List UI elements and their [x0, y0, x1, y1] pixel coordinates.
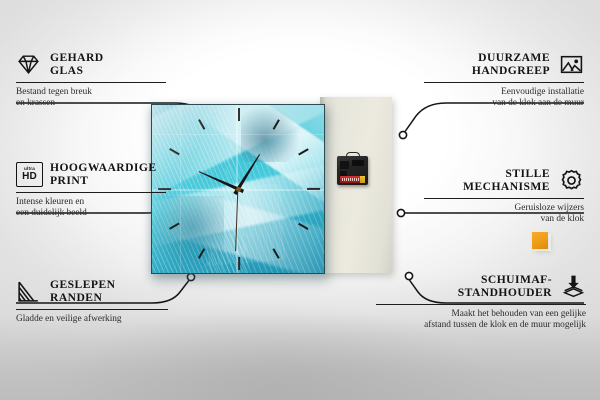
feature-desc: Maakt het behouden van een gelijke — [376, 309, 586, 320]
feature-desc: en krassen — [16, 98, 166, 109]
gear-icon — [559, 168, 584, 193]
feature-schuimafstandhouder: SCHUIMAF- STANDHOUDER Maakt het behouden… — [376, 274, 586, 332]
divider — [376, 304, 586, 305]
feature-desc: Eenvoudige installatie — [424, 87, 584, 98]
feature-desc: een duidelijk beeld — [16, 208, 166, 219]
mechanism-hanger-icon — [346, 152, 360, 160]
feature-title: DUURZAME HANDGREEP — [472, 52, 550, 78]
product-assembly — [150, 102, 390, 282]
clock-mechanism — [337, 156, 368, 185]
beveled-edge-icon — [16, 279, 41, 304]
feature-gehard-glas: GEHARD GLAS Bestand tegen breuk en krass… — [16, 52, 166, 110]
feature-desc: Gladde en veilige afwerking — [16, 314, 168, 325]
clock-back-panel — [320, 97, 392, 273]
feature-title: HOOGWAARDIGE PRINT — [50, 162, 157, 188]
infographic-canvas: GEHARD GLAS Bestand tegen breuk en krass… — [0, 0, 600, 400]
divider — [16, 192, 166, 193]
foam-spacer — [532, 232, 548, 249]
feature-desc: van de klok — [424, 214, 584, 225]
feature-stille-mechanisme: STILLE MECHANISME Geruisloze wijzers van… — [424, 168, 584, 226]
divider — [424, 198, 584, 199]
glass-clock-face — [151, 104, 325, 274]
feature-desc: Geruisloze wijzers — [424, 203, 584, 214]
feature-title: SCHUIMAF- STANDHOUDER — [458, 274, 552, 300]
picture-frame-icon — [559, 52, 584, 77]
glass-gloss-reflection — [152, 105, 324, 273]
battery-label — [342, 178, 360, 181]
divider — [16, 82, 166, 83]
feature-title: GEHARD GLAS — [50, 52, 104, 78]
down-arrow-stack-icon — [561, 274, 586, 299]
ultra-hd-icon: ultra HD — [16, 162, 41, 187]
feature-desc: Bestand tegen breuk — [16, 87, 166, 98]
feature-hoogwaardige-print: ultra HD HOOGWAARDIGE PRINT Intense kleu… — [16, 162, 166, 220]
diamond-icon — [16, 52, 41, 77]
feature-title: STILLE MECHANISME — [463, 168, 550, 194]
battery-positive-terminal — [360, 176, 365, 183]
divider — [16, 309, 168, 310]
feature-duurzame-handgreep: DUURZAME HANDGREEP Eenvoudige installati… — [424, 52, 584, 110]
feature-desc: van de klok aan de muur — [424, 98, 584, 109]
feature-title: GESLEPEN RANDEN — [50, 279, 115, 305]
divider — [424, 82, 584, 83]
mechanism-detail — [340, 161, 349, 169]
feature-desc: Intense kleuren en — [16, 197, 166, 208]
feature-geslepen-randen: GESLEPEN RANDEN Gladde en veilige afwerk… — [16, 279, 168, 325]
mechanism-detail — [352, 160, 364, 166]
feature-desc: afstand tussen de klok en de muur mogeli… — [376, 320, 586, 331]
battery — [340, 176, 365, 183]
